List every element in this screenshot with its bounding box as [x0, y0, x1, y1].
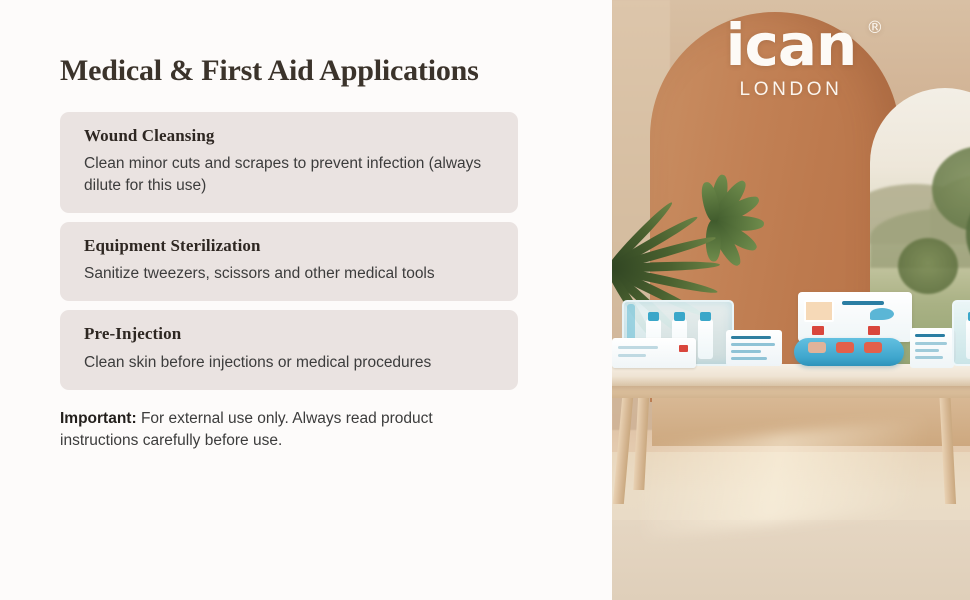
product-banner: Medical & First Aid Applications Wound C… — [0, 0, 970, 600]
product-blue-tray — [794, 338, 904, 366]
table-apron — [612, 386, 970, 398]
application-card: Pre-Injection Clean skin before injectio… — [60, 310, 518, 389]
application-card-list: Wound Cleansing Clean minor cuts and scr… — [60, 112, 552, 390]
page-title: Medical & First Aid Applications — [60, 52, 490, 90]
box-swoosh-graphic — [870, 308, 894, 320]
product-clear-case-right — [952, 300, 970, 366]
label-line — [915, 342, 947, 345]
label-line — [915, 334, 945, 337]
important-note: Important: For external use only. Always… — [60, 408, 512, 453]
card-heading: Pre-Injection — [84, 324, 498, 344]
box-tab — [812, 326, 824, 335]
tree-canopy — [898, 238, 958, 294]
box-tab — [868, 326, 880, 335]
card-body: Clean minor cuts and scrapes to prevent … — [84, 153, 484, 197]
box-window — [804, 300, 834, 322]
label-badge — [679, 345, 688, 352]
label-line — [731, 336, 771, 339]
product-bottle — [966, 319, 970, 359]
product-info-card — [726, 330, 782, 366]
card-body: Sanitize tweezers, scissors and other me… — [84, 263, 484, 285]
tray-item — [864, 342, 882, 353]
label-line — [915, 349, 939, 352]
product-box-wide — [612, 338, 696, 368]
product-box-small — [910, 328, 954, 368]
application-card: Wound Cleansing Clean minor cuts and scr… — [60, 112, 518, 213]
box-brand-line — [842, 301, 884, 305]
tray-item — [836, 342, 854, 353]
label-line — [915, 356, 943, 359]
label-line — [618, 354, 646, 357]
tray-item — [808, 342, 826, 353]
card-heading: Equipment Sterilization — [84, 236, 498, 256]
left-text-panel: Medical & First Aid Applications Wound C… — [0, 0, 612, 600]
product-photo-panel: ican ® LONDON — [612, 0, 970, 600]
label-line — [731, 350, 761, 353]
label-line — [731, 357, 767, 360]
important-label: Important: — [60, 410, 137, 427]
card-body: Clean skin before injections or medical … — [84, 352, 484, 374]
application-card: Equipment Sterilization Sanitize tweezer… — [60, 222, 518, 301]
label-line — [731, 343, 775, 346]
card-heading: Wound Cleansing — [84, 126, 498, 146]
product-bottle — [698, 319, 713, 359]
product-kit-box — [798, 292, 912, 342]
label-line — [618, 346, 658, 349]
